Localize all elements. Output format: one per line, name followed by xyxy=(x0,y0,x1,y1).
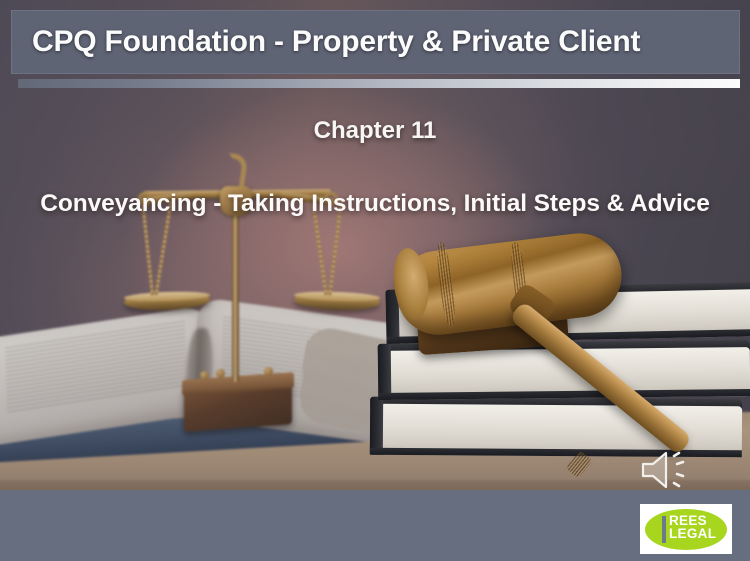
scales-knob xyxy=(264,367,273,376)
book-spine xyxy=(370,397,383,455)
footer-band xyxy=(0,490,750,561)
gavel-handle-ring xyxy=(566,450,593,478)
scales-knob xyxy=(200,371,209,380)
logo-ellipse: REES LEGAL xyxy=(645,509,727,550)
slide-title-bar: CPQ Foundation - Property & Private Clie… xyxy=(11,10,740,74)
slide-canvas: CPQ Foundation - Property & Private Clie… xyxy=(0,0,750,561)
speaker-icon[interactable] xyxy=(639,448,695,492)
page-title: CPQ Foundation - Property & Private Clie… xyxy=(32,25,640,59)
title-divider xyxy=(18,79,740,88)
scales-of-justice xyxy=(128,138,368,428)
logo-wordmark: REES LEGAL xyxy=(669,514,716,541)
rees-legal-logo: REES LEGAL xyxy=(640,504,732,554)
scales-post xyxy=(232,202,239,382)
logo-line-1: REES xyxy=(669,514,716,528)
logo-accent-bar xyxy=(662,516,666,543)
chapter-subtitle: Conveyancing - Taking Instructions, Init… xyxy=(0,190,750,218)
logo-line-2: LEGAL xyxy=(669,527,716,541)
scales-knob xyxy=(216,369,225,378)
chapter-label: Chapter 11 xyxy=(0,117,750,145)
gavel-handle xyxy=(509,301,693,456)
